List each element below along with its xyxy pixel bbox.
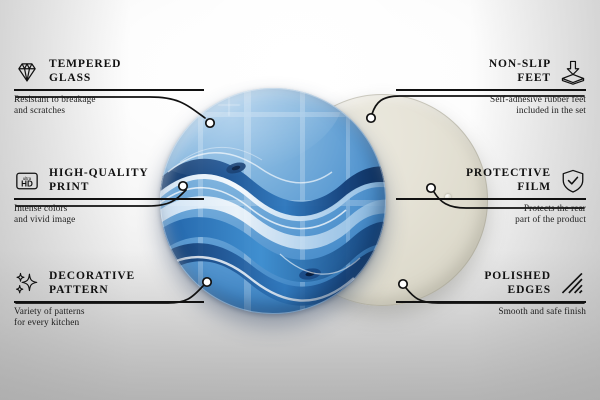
leader-dot-non-slip-feet [367, 114, 375, 122]
feature-title: PROTECTIVE FILM [466, 167, 551, 194]
feature-divider [396, 301, 586, 303]
feature-header: NON-SLIP FEET [396, 58, 586, 85]
feature-divider [14, 301, 204, 303]
svg-text:HD: HD [21, 179, 33, 188]
feature-divider [396, 89, 586, 91]
sparkles-icon [14, 271, 40, 297]
feature-divider [396, 198, 586, 200]
feature-description: Intense colors and vivid image [14, 204, 204, 227]
feature-header: TEMPERED GLASS [14, 58, 204, 85]
feature-divider [14, 198, 204, 200]
feature-title: DECORATIVE PATTERN [49, 270, 135, 297]
feature-header: PROTECTIVE FILM [396, 167, 586, 194]
feature-description: Resistant to breakage and scratches [14, 95, 204, 118]
press-down-pad-icon [560, 59, 586, 85]
feature-tempered-glass: TEMPERED GLASS Resistant to breakage and… [14, 58, 204, 117]
feature-header: ultra HD HIGH-QUALITY PRINT [14, 167, 204, 194]
feature-title: HIGH-QUALITY PRINT [49, 167, 149, 194]
feature-header: DECORATIVE PATTERN [14, 270, 204, 297]
leader-dot-tempered-glass [206, 119, 214, 127]
feature-high-quality-print: ultra HD HIGH-QUALITY PRINT Intense colo… [14, 167, 204, 226]
feature-title: POLISHED EDGES [484, 270, 551, 297]
feature-title: TEMPERED GLASS [49, 58, 121, 85]
shield-check-icon [560, 168, 586, 194]
feature-protective-film: PROTECTIVE FILM Protects the rear part o… [396, 167, 586, 226]
leader-dot-decorative-pattern [203, 278, 211, 286]
feature-non-slip-feet: NON-SLIP FEET Self-adhesive rubber feet … [396, 58, 586, 117]
feature-decorative-pattern: DECORATIVE PATTERN Variety of patterns f… [14, 270, 204, 329]
infographic-canvas: TEMPERED GLASS Resistant to breakage and… [0, 0, 600, 400]
feature-description: Self-adhesive rubber feet included in th… [396, 95, 586, 118]
feature-polished-edges: POLISHED EDGES Smooth and safe finish [396, 270, 586, 318]
feature-header: POLISHED EDGES [396, 270, 586, 297]
feature-description: Protects the rear part of the product [396, 204, 586, 227]
diagonal-stripes-icon [560, 271, 586, 297]
ultra-hd-icon: ultra HD [14, 168, 40, 194]
feature-description: Smooth and safe finish [396, 307, 586, 318]
feature-title: NON-SLIP FEET [489, 58, 551, 85]
feature-divider [14, 89, 204, 91]
diamond-icon [14, 59, 40, 85]
feature-description: Variety of patterns for every kitchen [14, 307, 204, 330]
